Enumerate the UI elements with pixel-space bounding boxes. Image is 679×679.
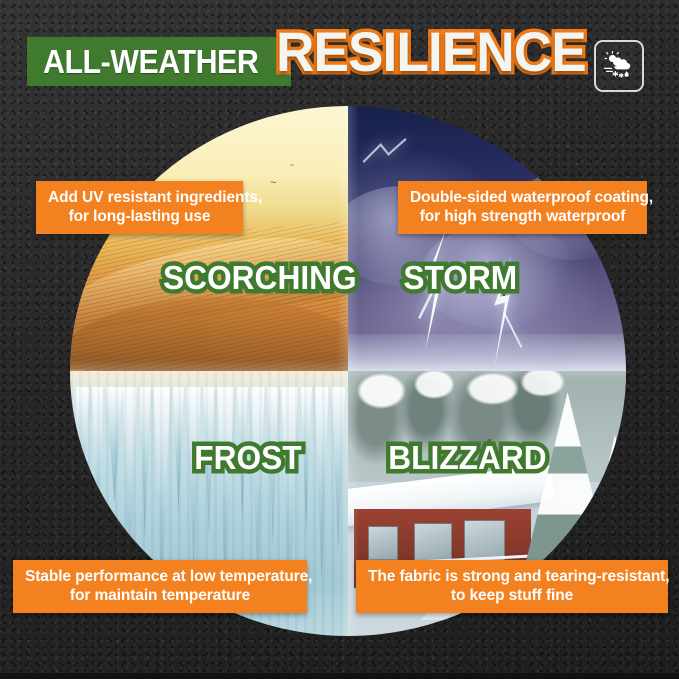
caption-storm: Double-sided waterproof coating, for hig… — [398, 181, 647, 234]
sun-behind-cloud-rain-snow-icon — [602, 49, 636, 83]
bottom-edge — [0, 673, 679, 679]
caption-frost: Stable performance at low temperature, f… — [13, 560, 307, 613]
weather-badge — [594, 40, 644, 92]
caption-line-1: Stable performance at low temperature, — [25, 567, 295, 586]
caption-line-2: for high strength waterproof — [410, 207, 635, 226]
page-title: RESILIENCE — [276, 24, 586, 80]
poster-root: ALL-WEATHER RESILIENCE — [0, 0, 679, 679]
quadrant-storm — [348, 106, 626, 371]
caption-line-2: for maintain temperature — [25, 586, 295, 605]
header: ALL-WEATHER RESILIENCE — [0, 0, 679, 104]
cabin-window — [414, 523, 452, 562]
quadrant-scorching: ~ ~ — [70, 106, 348, 371]
cabin-window — [368, 526, 398, 560]
caption-line-2: for long-lasting use — [48, 207, 231, 226]
all-weather-banner: ALL-WEATHER — [27, 37, 291, 86]
caption-line-1: The fabric is strong and tearing-resista… — [368, 567, 656, 586]
storm-sea-foam — [348, 334, 626, 371]
caption-line-2: to keep stuff fine — [368, 586, 656, 605]
caption-line-1: Add UV resistant ingredients, — [48, 188, 231, 207]
caption-scorching: Add UV resistant ingredients, for long-l… — [36, 181, 243, 234]
caption-line-1: Double-sided waterproof coating, — [410, 188, 635, 207]
all-weather-banner-label: ALL-WEATHER — [43, 45, 258, 78]
desert-dunes-icon: ~ ~ — [70, 106, 348, 371]
quadrant-label-frost: FROST — [194, 441, 301, 474]
bird-icon: ~ — [290, 162, 295, 170]
quadrant-label-scorching: SCORCHING — [163, 261, 357, 294]
quadrant-label-storm: STORM — [403, 261, 517, 294]
quadrant-label-blizzard: BLIZZARD — [388, 441, 546, 474]
bird-icon: ~ — [270, 178, 276, 189]
caption-blizzard: The fabric is strong and tearing-resista… — [356, 560, 668, 613]
lightning-storm-icon — [348, 106, 626, 371]
